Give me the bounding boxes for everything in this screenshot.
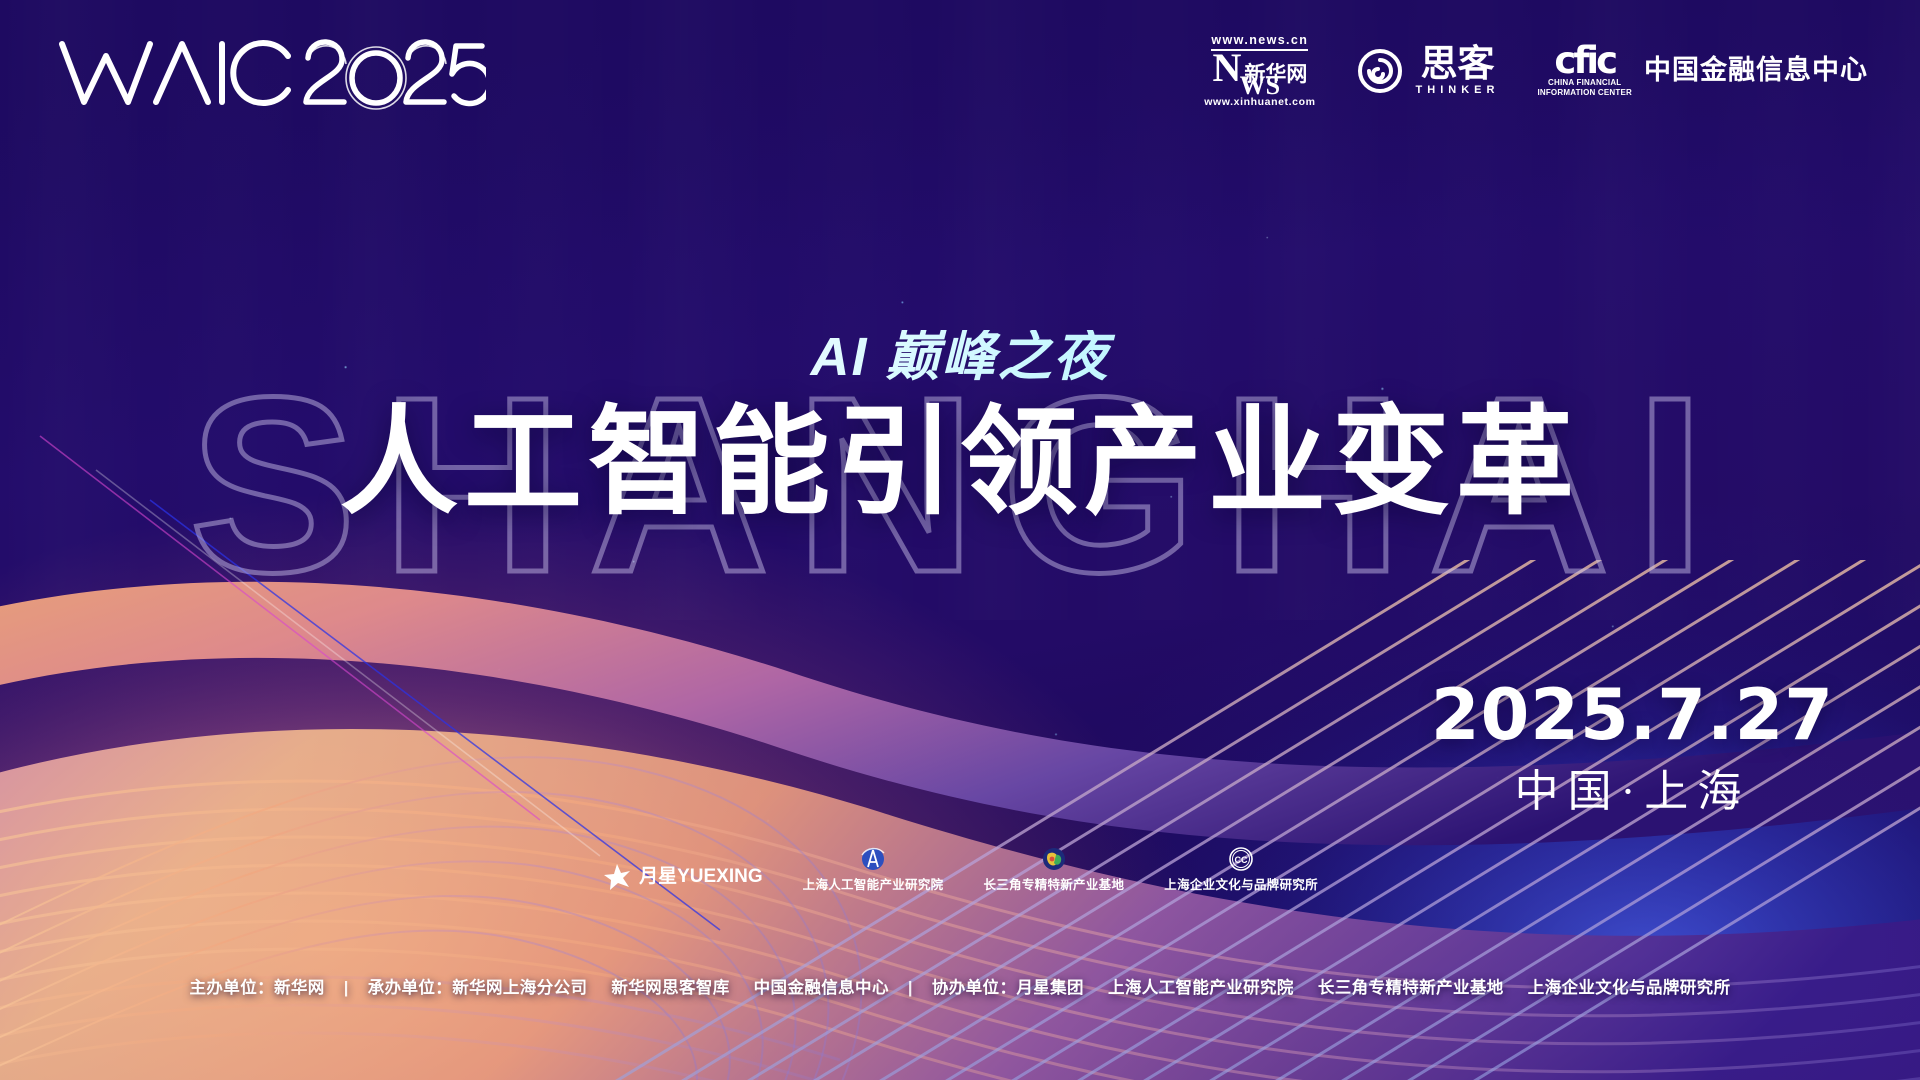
svg-text:CC: CC — [1235, 855, 1248, 865]
credit-organizer-3: 中国金融信息中心 — [754, 979, 889, 997]
credit-organizer-2: 新华网思客智库 — [611, 979, 729, 997]
cfic-en-line1: CHINA FINANCIAL — [1548, 78, 1621, 88]
partner-logo-row: 月星YUEXING 上海人工智能产业研究院 长三角专精特新产业基地 — [0, 845, 1920, 892]
partner-yangtze-delta-base: 长三角专精特新产业基地 — [983, 845, 1124, 892]
waic-2025-logo — [56, 34, 486, 110]
partner-yuexing-label: 月星YUEXING — [639, 867, 763, 886]
credit-separator-1: | — [330, 979, 363, 998]
xinhuanet-en-abbr: WS — [1240, 76, 1280, 97]
thinker-spiral-icon — [1354, 45, 1406, 97]
corporate-culture-institute-icon: CC — [1226, 845, 1256, 875]
thinker-wordmark: 思客 THINKER — [1416, 46, 1500, 96]
yangtze-delta-base-icon — [1039, 845, 1069, 875]
xinhuanet-initial: N — [1212, 52, 1241, 85]
partner-corporate-culture-institute-label: 上海企业文化与品牌研究所 — [1164, 879, 1318, 892]
yuexing-star-icon — [602, 862, 632, 892]
sponsor-logo-cfic: cfic CHINA FINANCIAL INFORMATION CENTER … — [1537, 43, 1868, 98]
cfic-en-line2: INFORMATION CENTER — [1537, 88, 1632, 98]
partner-shanghai-ai-institute-label: 上海人工智能产业研究院 — [803, 879, 944, 892]
partner-yangtze-delta-base-label: 长三角专精特新产业基地 — [983, 879, 1124, 892]
event-poster: SHANGHAI — [0, 0, 1920, 1080]
cfic-mark: cfic — [1554, 43, 1615, 78]
credit-organizer: 承办单位：新华网上海分公司 — [368, 979, 588, 997]
partner-shanghai-ai-institute: 上海人工智能产业研究院 — [803, 845, 944, 892]
sponsor-logo-xinhuanet: www.news.cn N 新华网 WS www.xinhuanet.com — [1204, 34, 1315, 108]
partner-corporate-culture-institute: CC 上海企业文化与品牌研究所 — [1164, 845, 1318, 892]
sponsor-logo-thinker: 思客 THINKER — [1354, 45, 1500, 97]
cfic-mark-wrap: cfic CHINA FINANCIAL INFORMATION CENTER — [1537, 43, 1632, 98]
xinhuanet-url-bottom: www.xinhuanet.com — [1204, 97, 1315, 108]
thinker-cn-name: 思客 — [1420, 46, 1494, 83]
partner-yuexing: 月星YUEXING — [602, 862, 763, 892]
credit-coorganizer: 协办单位：月星集团 — [932, 979, 1084, 997]
credit-separator-2: | — [894, 979, 927, 998]
background-wave-artwork — [0, 0, 1920, 1080]
cfic-cn-name: 中国金融信息中心 — [1644, 57, 1868, 84]
credit-coorganizer-4: 上海企业文化与品牌研究所 — [1528, 979, 1731, 997]
poster-header: www.news.cn N 新华网 WS www.xinhuanet.com — [0, 0, 1920, 150]
thinker-en-name: THINKER — [1416, 85, 1500, 96]
credit-host: 主办单位：新华网 — [190, 979, 325, 997]
credit-coorganizer-2: 上海人工智能产业研究院 — [1108, 979, 1294, 997]
credit-strip: 主办单位：新华网 | 承办单位：新华网上海分公司 新华网思客智库 中国金融信息中… — [0, 974, 1920, 998]
shanghai-ai-institute-icon — [858, 845, 888, 875]
credit-coorganizer-3: 长三角专精特新产业基地 — [1318, 979, 1504, 997]
header-sponsor-bar: www.news.cn N 新华网 WS www.xinhuanet.com — [1204, 34, 1868, 108]
